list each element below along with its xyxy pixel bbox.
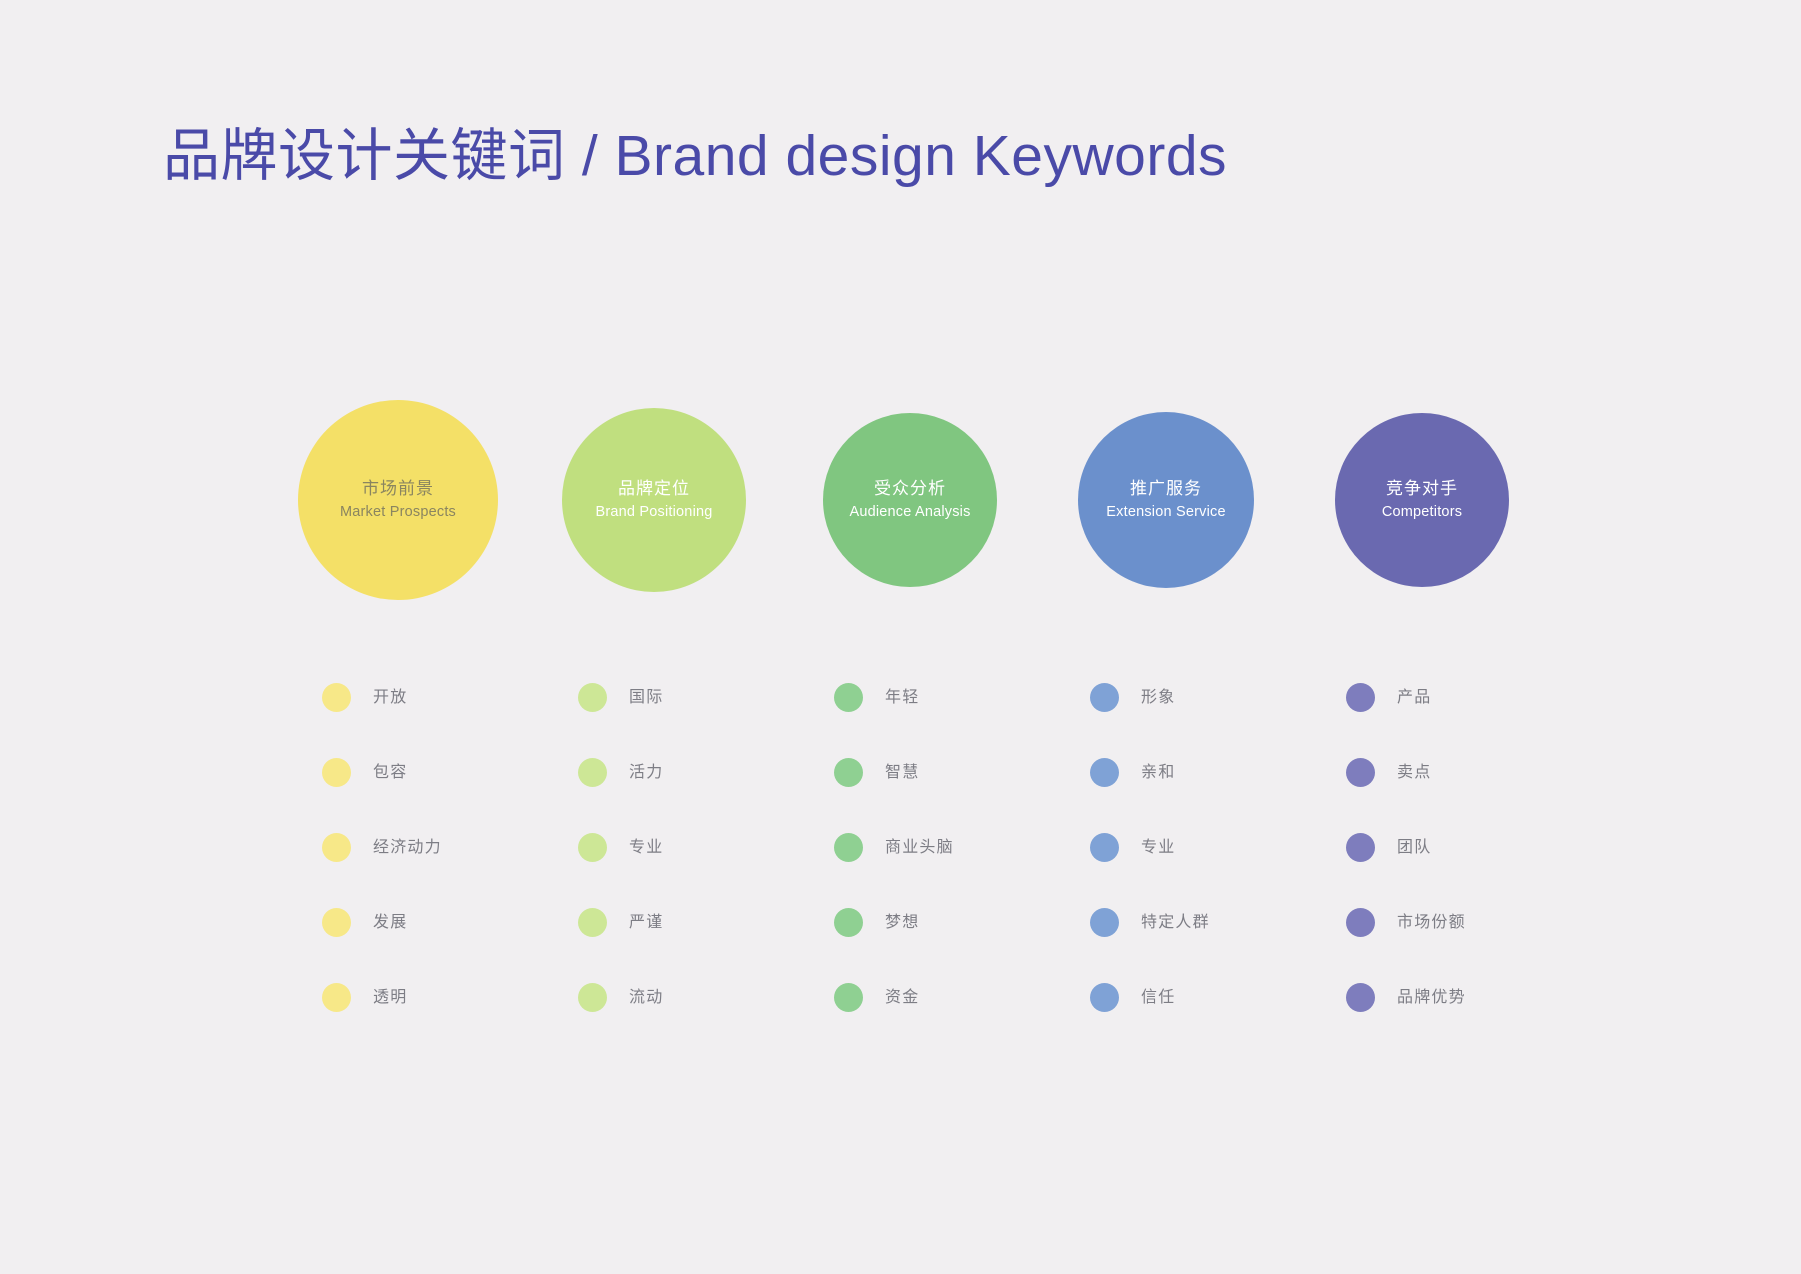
- category-title-en: Competitors: [1382, 501, 1462, 523]
- keyword-item[interactable]: 商业头脑: [834, 810, 954, 885]
- bullet-dot-icon: [834, 908, 863, 937]
- page-title: 品牌设计关键词 / Brand design Keywords: [163, 120, 1227, 192]
- bullet-dot-icon: [1090, 908, 1119, 937]
- keyword-item[interactable]: 形象: [1090, 660, 1175, 735]
- keyword-item[interactable]: 年轻: [834, 660, 919, 735]
- bullet-dot-icon: [1090, 983, 1119, 1012]
- keyword-item[interactable]: 品牌优势: [1346, 960, 1466, 1035]
- keyword-column: 品牌定位Brand Positioning国际活力专业严谨流动: [526, 400, 782, 1035]
- bullet-dot-icon: [322, 758, 351, 787]
- category-bubble-wrapper: 推广服务Extension Service: [1038, 400, 1294, 600]
- keyword-label: 市场份额: [1397, 912, 1466, 934]
- category-bubble[interactable]: 品牌定位Brand Positioning: [562, 408, 746, 592]
- bullet-dot-icon: [1090, 833, 1119, 862]
- keyword-label: 透明: [373, 987, 407, 1009]
- bullet-dot-icon: [1346, 833, 1375, 862]
- category-title-en: Extension Service: [1106, 501, 1225, 523]
- category-title-cn: 受众分析: [874, 477, 946, 501]
- category-title-cn: 品牌定位: [618, 477, 690, 501]
- keyword-label: 开放: [373, 687, 407, 709]
- bullet-dot-icon: [834, 758, 863, 787]
- bullet-dot-icon: [322, 908, 351, 937]
- keyword-item[interactable]: 严谨: [578, 885, 663, 960]
- keyword-item[interactable]: 透明: [322, 960, 407, 1035]
- keyword-item[interactable]: 资金: [834, 960, 919, 1035]
- bullet-dot-icon: [834, 683, 863, 712]
- slide-canvas: 品牌设计关键词 / Brand design Keywords 市场前景Mark…: [0, 0, 1801, 1274]
- keyword-item[interactable]: 开放: [322, 660, 407, 735]
- keyword-list: 开放包容经济动力发展透明: [270, 660, 526, 1035]
- keyword-label: 信任: [1141, 987, 1175, 1009]
- bullet-dot-icon: [578, 833, 607, 862]
- keyword-label: 活力: [629, 762, 663, 784]
- bullet-dot-icon: [322, 833, 351, 862]
- bullet-dot-icon: [1346, 683, 1375, 712]
- keyword-item[interactable]: 发展: [322, 885, 407, 960]
- bullet-dot-icon: [578, 683, 607, 712]
- category-bubble-wrapper: 品牌定位Brand Positioning: [526, 400, 782, 600]
- keyword-column: 受众分析Audience Analysis年轻智慧商业头脑梦想资金: [782, 400, 1038, 1035]
- keyword-label: 特定人群: [1141, 912, 1210, 934]
- category-bubble-wrapper: 竞争对手Competitors: [1294, 400, 1550, 600]
- keyword-item[interactable]: 国际: [578, 660, 663, 735]
- keyword-item[interactable]: 信任: [1090, 960, 1175, 1035]
- category-bubble[interactable]: 竞争对手Competitors: [1335, 413, 1509, 587]
- keyword-label: 智慧: [885, 762, 919, 784]
- category-bubble-wrapper: 受众分析Audience Analysis: [782, 400, 1038, 600]
- keyword-label: 团队: [1397, 837, 1431, 859]
- keyword-label: 梦想: [885, 912, 919, 934]
- keyword-columns: 市场前景Market Prospects开放包容经济动力发展透明品牌定位Bran…: [270, 400, 1550, 1035]
- keyword-label: 包容: [373, 762, 407, 784]
- keyword-item[interactable]: 专业: [1090, 810, 1175, 885]
- keyword-item[interactable]: 专业: [578, 810, 663, 885]
- keyword-item[interactable]: 流动: [578, 960, 663, 1035]
- keyword-item[interactable]: 卖点: [1346, 735, 1431, 810]
- keyword-item[interactable]: 亲和: [1090, 735, 1175, 810]
- bullet-dot-icon: [578, 983, 607, 1012]
- keyword-label: 严谨: [629, 912, 663, 934]
- keyword-label: 年轻: [885, 687, 919, 709]
- bullet-dot-icon: [1090, 758, 1119, 787]
- bullet-dot-icon: [322, 983, 351, 1012]
- keyword-label: 商业头脑: [885, 837, 954, 859]
- keyword-item[interactable]: 产品: [1346, 660, 1431, 735]
- category-bubble[interactable]: 市场前景Market Prospects: [298, 400, 498, 600]
- keyword-column: 竞争对手Competitors产品卖点团队市场份额品牌优势: [1294, 400, 1550, 1035]
- bullet-dot-icon: [1090, 683, 1119, 712]
- bullet-dot-icon: [578, 908, 607, 937]
- bullet-dot-icon: [834, 983, 863, 1012]
- keyword-item[interactable]: 包容: [322, 735, 407, 810]
- keyword-label: 资金: [885, 987, 919, 1009]
- category-title-en: Brand Positioning: [595, 501, 712, 523]
- bullet-dot-icon: [1346, 758, 1375, 787]
- category-title-cn: 推广服务: [1130, 477, 1202, 501]
- keyword-label: 品牌优势: [1397, 987, 1466, 1009]
- bullet-dot-icon: [578, 758, 607, 787]
- category-bubble[interactable]: 推广服务Extension Service: [1078, 412, 1254, 588]
- keyword-label: 流动: [629, 987, 663, 1009]
- keyword-list: 年轻智慧商业头脑梦想资金: [782, 660, 1038, 1035]
- keyword-item[interactable]: 市场份额: [1346, 885, 1466, 960]
- keyword-label: 发展: [373, 912, 407, 934]
- bullet-dot-icon: [1346, 983, 1375, 1012]
- keyword-label: 卖点: [1397, 762, 1431, 784]
- keyword-label: 亲和: [1141, 762, 1175, 784]
- keyword-item[interactable]: 特定人群: [1090, 885, 1210, 960]
- keyword-list: 国际活力专业严谨流动: [526, 660, 782, 1035]
- bullet-dot-icon: [322, 683, 351, 712]
- category-bubble[interactable]: 受众分析Audience Analysis: [823, 413, 997, 587]
- keyword-item[interactable]: 团队: [1346, 810, 1431, 885]
- category-bubble-wrapper: 市场前景Market Prospects: [270, 400, 526, 600]
- keyword-column: 市场前景Market Prospects开放包容经济动力发展透明: [270, 400, 526, 1035]
- category-title-cn: 市场前景: [362, 477, 434, 501]
- category-title-en: Market Prospects: [340, 501, 456, 523]
- keyword-label: 国际: [629, 687, 663, 709]
- keyword-list: 产品卖点团队市场份额品牌优势: [1294, 660, 1550, 1035]
- keyword-label: 专业: [1141, 837, 1175, 859]
- category-title-en: Audience Analysis: [849, 501, 970, 523]
- keyword-item[interactable]: 经济动力: [322, 810, 442, 885]
- bullet-dot-icon: [834, 833, 863, 862]
- keyword-column: 推广服务Extension Service形象亲和专业特定人群信任: [1038, 400, 1294, 1035]
- keyword-label: 产品: [1397, 687, 1431, 709]
- keyword-item[interactable]: 梦想: [834, 885, 919, 960]
- bullet-dot-icon: [1346, 908, 1375, 937]
- keyword-list: 形象亲和专业特定人群信任: [1038, 660, 1294, 1035]
- keyword-label: 形象: [1141, 687, 1175, 709]
- keyword-item[interactable]: 智慧: [834, 735, 919, 810]
- category-title-cn: 竞争对手: [1386, 477, 1458, 501]
- keyword-label: 经济动力: [373, 837, 442, 859]
- keyword-label: 专业: [629, 837, 663, 859]
- keyword-item[interactable]: 活力: [578, 735, 663, 810]
